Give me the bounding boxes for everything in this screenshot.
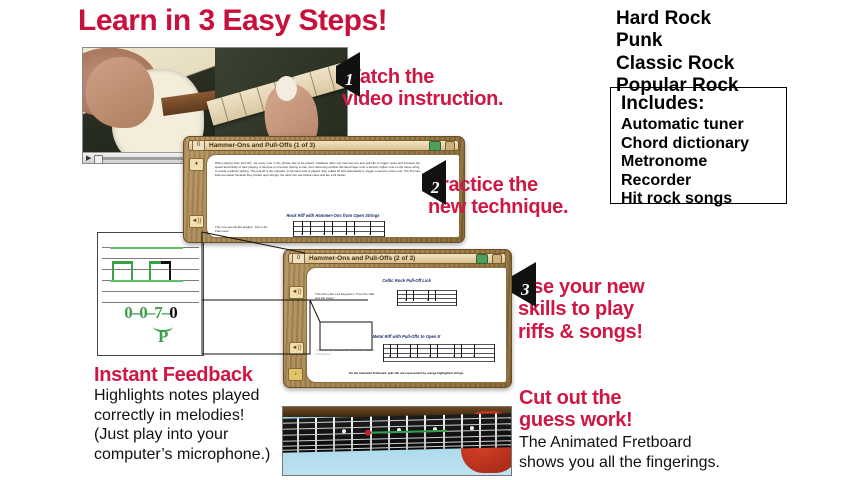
includes-item-4: Hit rock songs	[621, 190, 786, 209]
animated-fretboard-photo	[282, 406, 512, 476]
step-2-line2: new technique.	[428, 196, 568, 218]
cut-out-guesswork-block: Cut out the guess work! The Animated Fre…	[519, 387, 720, 472]
step-2-text: Practice the new technique.	[428, 174, 568, 219]
lesson-2-titlebar[interactable]: 0 Hammer-Ons and Pull-Offs (2 of 3)	[288, 253, 506, 264]
step-2-number: 2	[431, 178, 440, 198]
includes-title: Includes:	[621, 93, 786, 115]
lesson-1-titlebar[interactable]: 0 Hammer-Ons and Pull-Offs (1 of 3)	[188, 140, 459, 151]
cutout-line1: The Animated Fretboard	[519, 433, 720, 453]
lesson-2-title: Hammer-Ons and Pull-Offs (2 of 3)	[309, 255, 415, 262]
lesson-1-caption: This one sounds like Eagles' “Life in th…	[215, 225, 273, 233]
fretboard-surface	[283, 413, 511, 453]
lesson-2-audio-icon-1[interactable]: ◄))	[289, 286, 304, 299]
tab-note-3: 0	[169, 303, 177, 322]
lesson-2-page: Celtic Rock Pull-Off Lick This lick is l…	[306, 267, 507, 383]
cutout-heading1: Cut out the	[519, 387, 720, 409]
pull-off-label: P	[158, 327, 168, 347]
genre-item-1: Punk	[616, 30, 738, 52]
step-2-callout: 2 Practice the new technique.	[422, 174, 568, 219]
includes-box: Includes: Automatic tuner Chord dictiona…	[610, 87, 787, 204]
step-3-callout: 3 Use your new skills to play riffs & so…	[512, 276, 644, 343]
lesson-1-bookmark-icon[interactable]: ♦	[189, 158, 204, 171]
lesson-1-page-number: 0	[192, 140, 205, 151]
feedback-line2: correctly in melodies!	[94, 406, 270, 426]
includes-item-3: Recorder	[621, 172, 786, 191]
step-1-line2: video instruction.	[342, 88, 503, 110]
tab-note-0: 0	[124, 303, 132, 322]
tab-staff	[102, 247, 199, 303]
step-3-text: Use your new skills to play riffs & song…	[518, 276, 644, 343]
tablature-panel: 0–0–7–0 P	[97, 232, 204, 356]
tab-note-1: 0	[139, 303, 147, 322]
includes-item-2: Metronome	[621, 153, 786, 172]
genre-item-0: Hard Rock	[616, 8, 738, 30]
genre-list: Hard Rock Punk Classic Rock Popular Rock	[616, 8, 738, 98]
feedback-heading: Instant Feedback	[94, 364, 270, 386]
cutout-heading2: guess work!	[519, 409, 720, 431]
feedback-line1: Highlights notes played	[94, 386, 270, 406]
lesson-2-footer: On the Animated Fretboard, pull-offs are…	[307, 371, 506, 375]
includes-item-0: Automatic tuner	[621, 116, 786, 135]
feedback-body: Highlights notes played correctly in mel…	[94, 386, 270, 464]
lesson-2-example1-title: Celtic Rock Pull-Off Lick	[307, 278, 506, 283]
tab-note-2: 7	[154, 303, 162, 322]
lesson-2-audio-icon-2[interactable]: ◄))	[289, 342, 304, 355]
lesson-2-guitar-icon-1[interactable]: ♪	[288, 368, 303, 381]
step-1-number: 1	[345, 70, 354, 90]
cutout-body: The Animated Fretboard shows you all the…	[519, 433, 720, 472]
step-3-line3: riffs & songs!	[518, 321, 643, 343]
step-3-line1: Use your new	[518, 276, 644, 298]
lesson-1-menu-button[interactable]	[445, 141, 455, 151]
tab-note-numbers: 0–0–7–0	[98, 303, 203, 323]
step-3-number: 3	[521, 280, 530, 300]
lesson-2-caption2: “This example sounds like Metallica's ‘M…	[315, 348, 377, 356]
step-1-text: Watch the video instruction.	[342, 66, 503, 111]
lesson-2-caption1: This lick is like Led Zeppelin's “Over t…	[315, 292, 377, 300]
play-icon[interactable]: ▶	[86, 155, 91, 162]
lesson-2-status-indicator[interactable]	[476, 254, 488, 264]
lesson-2-notation2: 0 3 0 3 0	[383, 344, 495, 362]
lesson-1-audio-icon[interactable]: ◄))	[189, 215, 204, 228]
strumming-hand	[86, 57, 155, 128]
lesson-1-title: Hammer-Ons and Pull-Offs (1 of 3)	[209, 142, 315, 149]
page-title: Learn in 3 Easy Steps!	[78, 4, 387, 38]
lesson-2-menu-button[interactable]	[492, 254, 502, 264]
lesson-1-body-text: When playing licks and riffs, not every …	[215, 161, 420, 178]
includes-item-1: Chord dictionary	[621, 135, 786, 154]
lesson-2-page-number: 0	[292, 253, 305, 264]
cutout-line2: shows you all the fingerings.	[519, 453, 720, 473]
lesson-1-status-indicator[interactable]	[429, 141, 441, 151]
instant-feedback-block: Instant Feedback Highlights notes played…	[94, 364, 270, 464]
highlighted-string	[370, 430, 448, 434]
lesson-window-2[interactable]: 0 Hammer-Ons and Pull-Offs (2 of 3) Celt…	[283, 249, 512, 388]
includes-list: Automatic tuner Chord dictionary Metrono…	[621, 116, 786, 209]
genre-item-2: Classic Rock	[616, 53, 738, 75]
step-1-callout: 1 Watch the video instruction.	[336, 66, 503, 111]
feedback-line4: computer’s microphone.)	[94, 445, 270, 465]
lesson-2-example2-title: Metal Riff with Pull-Offs to Open E	[307, 334, 506, 339]
feedback-line3: (Just play into your	[94, 425, 270, 445]
thumb-highlight	[276, 76, 297, 101]
lesson-2-notation1: 7 5	[397, 290, 457, 306]
lesson-1-notation: 0 0 7 0	[293, 221, 385, 238]
